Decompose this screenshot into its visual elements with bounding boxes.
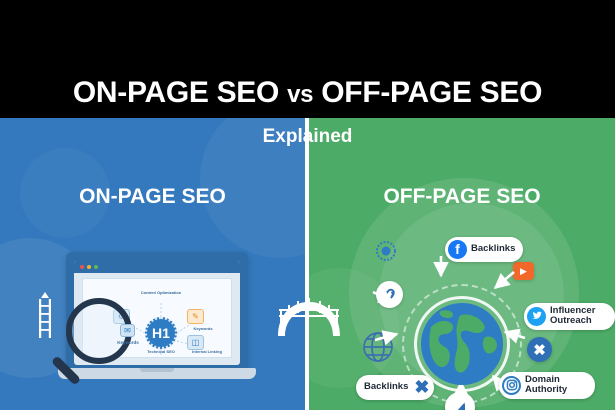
heading-off-page-seo: OFF-PAGE SEO (309, 185, 615, 209)
badge-label: Backlinks (364, 382, 408, 392)
badge-backlinks-x[interactable]: Backlinks ✖ (356, 375, 434, 400)
diagram-label-internal-linking: Internal Linking (183, 349, 231, 354)
page-title: ON-PAGE SEO vs OFF-PAGE SEO (0, 76, 615, 110)
badge-label: Influencer Outreach (550, 306, 607, 327)
monitor-icon: ◫ (187, 335, 204, 350)
diagram-label-content-optimization: Content Optimization (135, 290, 187, 295)
diagram-label-technical-seo: Technical SEO (137, 349, 185, 354)
subtitle: Explained (0, 126, 615, 148)
browser-titlebar (74, 261, 240, 273)
pencil-icon: ✎ (187, 309, 204, 324)
envelope-icon: ✉ (120, 324, 135, 337)
badge-backlinks-facebook[interactable]: f Backlinks (445, 237, 523, 262)
magnified-label: Keywords (112, 340, 144, 345)
facebook-icon: f (448, 240, 467, 259)
badge-influencer-outreach-twitter[interactable]: Influencer Outreach (524, 303, 615, 330)
minimize-dot-icon (87, 265, 91, 269)
twitter-icon (527, 307, 546, 326)
h1-node: H1 (145, 317, 177, 349)
badge-label: Domain Authority (525, 375, 587, 396)
laptop-notch (140, 368, 174, 372)
page-title-vs: vs (287, 81, 313, 108)
magnifier-handle (51, 355, 81, 385)
x-icon: ✖ (412, 378, 431, 397)
magnifier-lens: ✉ Keywords (66, 298, 132, 364)
heading-on-page-seo: ON-PAGE SEO (0, 185, 305, 209)
page-title-right: OFF-PAGE SEO (321, 76, 542, 109)
maximize-dot-icon (94, 265, 98, 269)
infographic-canvas: ON-PAGE SEO vs OFF-PAGE SEO Explained ON… (0, 0, 615, 410)
badge-label: Backlinks (471, 244, 515, 254)
diagram-label-keywords: Keywords (183, 326, 223, 331)
globe-sphere (421, 303, 503, 385)
badge-domain-authority-instagram[interactable]: Domain Authority (499, 372, 595, 399)
instagram-icon (502, 376, 521, 395)
page-title-left: ON-PAGE SEO (73, 76, 279, 109)
magnifier-icon: ✉ Keywords (44, 298, 136, 394)
close-dot-icon (80, 265, 84, 269)
